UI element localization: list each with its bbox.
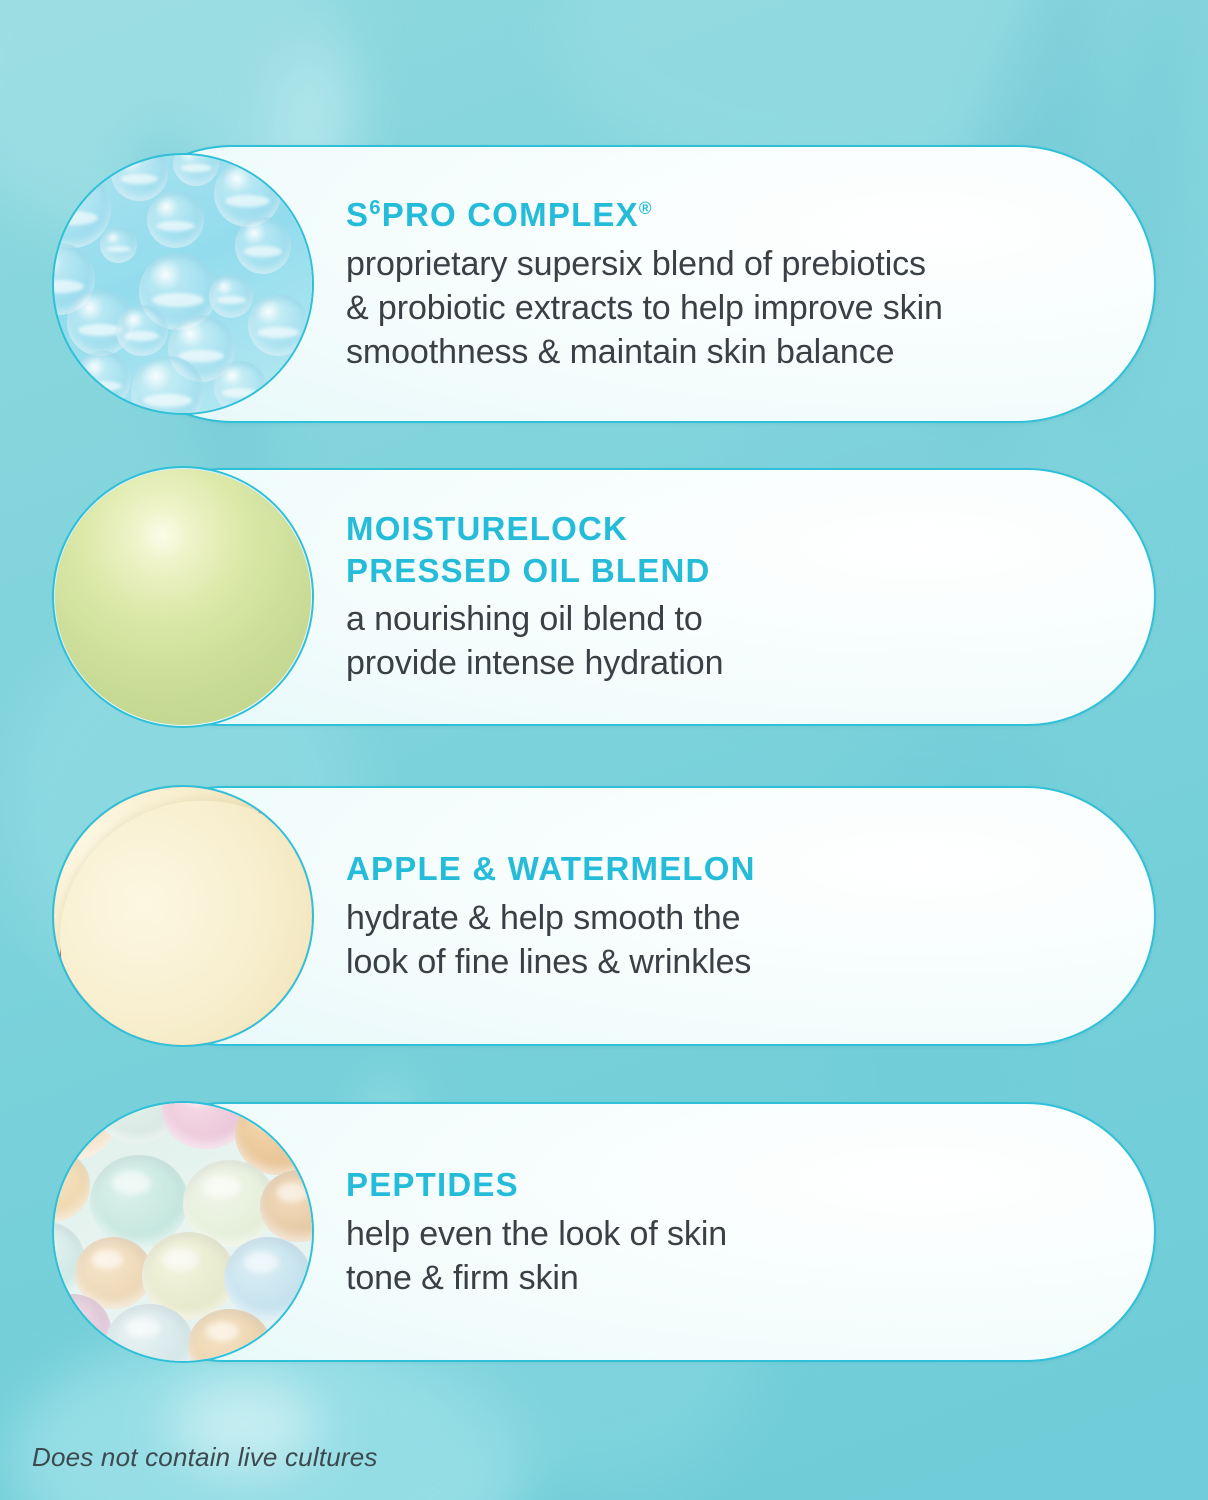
card-body: help even the look of skin tone & firm s… — [346, 1212, 1114, 1300]
ingredient-card-moisturelock-pressed-oil-blend: MOISTURELOCK PRESSED OIL BLEND a nourish… — [94, 468, 1156, 726]
card-title: S6PRO COMPLEX® — [346, 194, 1114, 236]
card-body: proprietary supersix blend of prebiotics… — [346, 242, 1114, 375]
card-title: MOISTURELOCK PRESSED OIL BLEND — [346, 508, 1114, 591]
ingredient-card-apple-watermelon: APPLE & WATERMELON hydrate & help smooth… — [94, 786, 1156, 1046]
card-title: PEPTIDES — [346, 1164, 1114, 1206]
ingredient-card-peptides: PEPTIDES help even the look of skin tone… — [94, 1102, 1156, 1362]
card-title: APPLE & WATERMELON — [346, 848, 1114, 890]
card-body: a nourishing oil blend to provide intens… — [346, 597, 1114, 685]
apple-slices-image — [52, 785, 314, 1047]
card-body: hydrate & help smooth the look of fine l… — [346, 896, 1114, 984]
bubbles-image — [52, 153, 314, 415]
footnote-disclaimer: Does not contain live cultures — [32, 1442, 378, 1473]
ingredient-card-s6-pro-complex: S6PRO COMPLEX® proprietary supersix blen… — [94, 145, 1156, 423]
peptide-beads-image — [52, 1101, 314, 1363]
green-sphere-image — [52, 466, 314, 728]
